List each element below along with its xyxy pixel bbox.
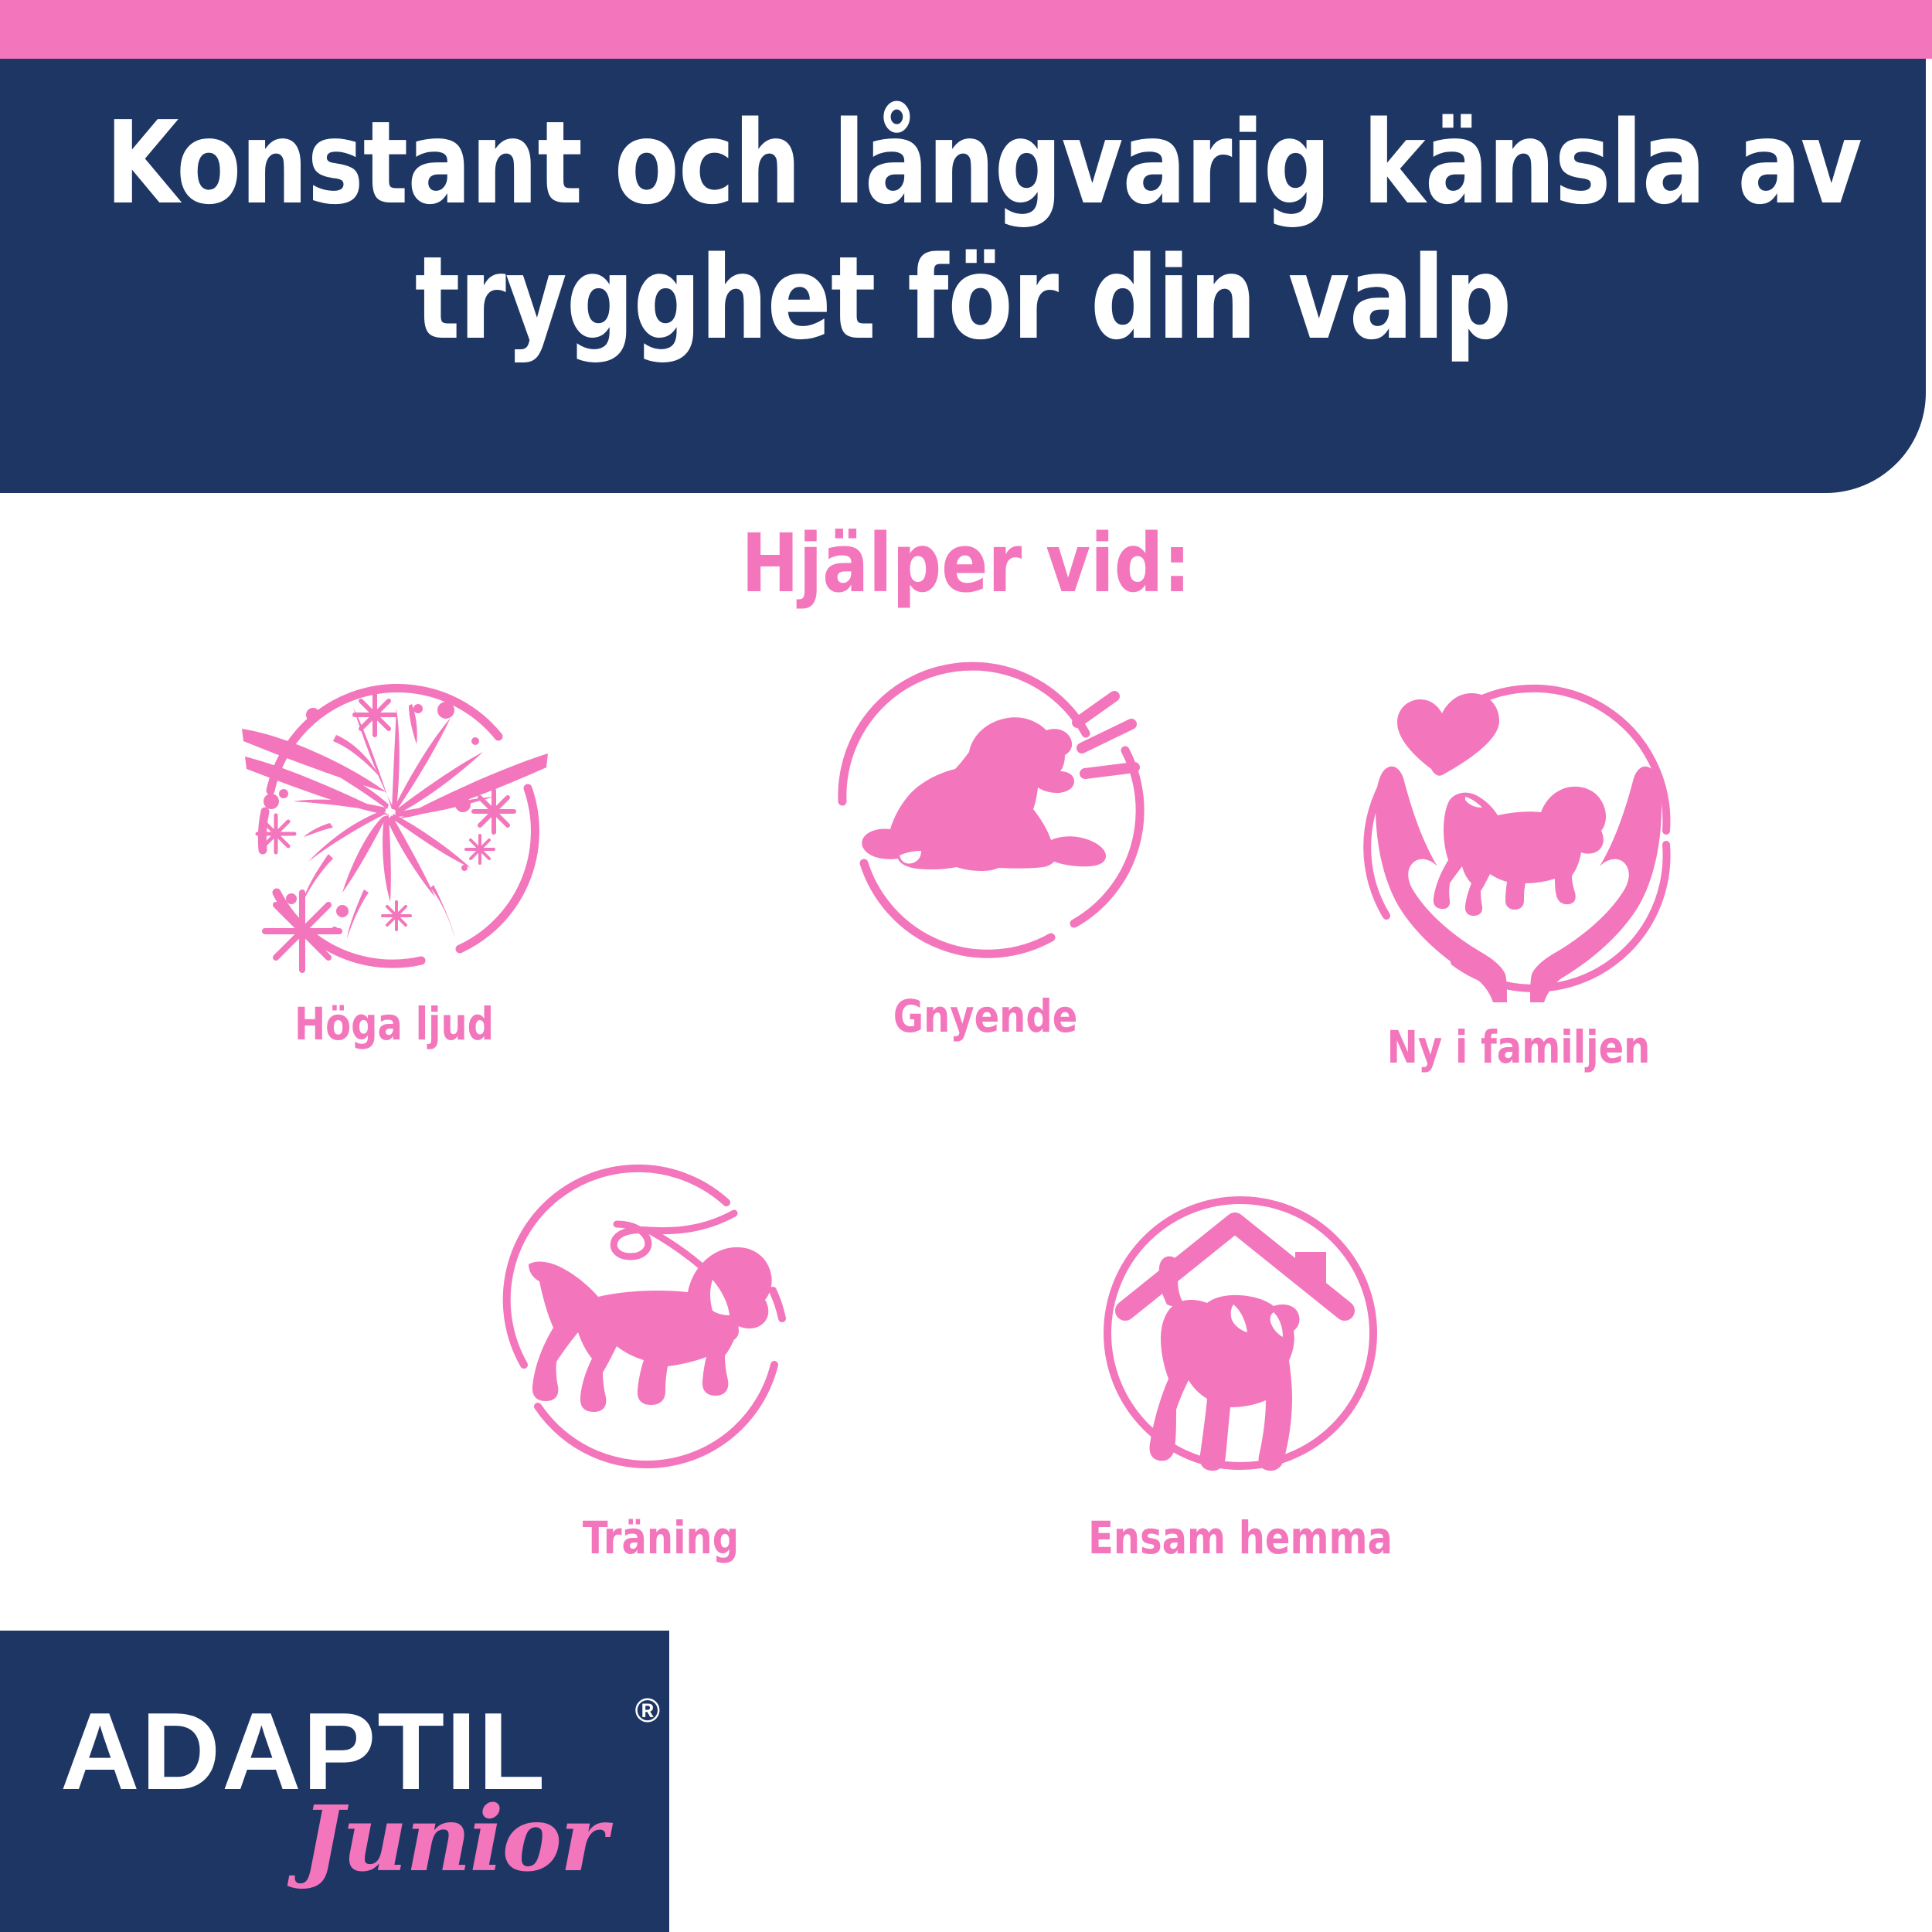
benefit-tile-home-alone: Ensam hemma [1059, 1175, 1422, 1564]
whining-dog-icon [819, 653, 1151, 985]
title-line-2: trygghet för din valp [105, 231, 1820, 366]
benefit-label: Träning [494, 1512, 828, 1564]
brand-logo-block: ADAPTIL® Junior [0, 1631, 669, 1932]
benefit-label: Ensam hemma [1073, 1512, 1407, 1564]
registered-trademark-icon: ® [635, 1694, 660, 1728]
fireworks-icon [228, 661, 560, 993]
benefit-label: Ny i familjen [1352, 1021, 1685, 1073]
puppy-in-hands-heart-icon [1352, 684, 1685, 1016]
title-line-1: Konstant och långvarig känsla av [105, 96, 1820, 231]
top-pink-bar [0, 0, 1932, 59]
header-panel: Konstant och långvarig känsla av trygghe… [0, 59, 1926, 493]
benefit-label: Höga ljud [227, 998, 561, 1050]
infographic-page: Konstant och långvarig känsla av trygghe… [0, 0, 1932, 1932]
benefit-tile-training: Träning [479, 1175, 842, 1564]
puppy-under-roof-icon [1074, 1175, 1406, 1507]
benefit-tile-whining: Gnyende [804, 653, 1167, 1043]
page-title: Konstant och långvarig känsla av trygghe… [77, 96, 1849, 366]
brand-subname: Junior [301, 1794, 606, 1884]
puppy-on-leash-icon [495, 1175, 827, 1507]
benefit-tile-noise: Höga ljud [213, 661, 576, 1050]
section-heading: Hjälper vid: [49, 516, 1884, 611]
benefit-tile-new-family: Ny i familjen [1337, 684, 1700, 1073]
benefit-label: Gnyende [818, 990, 1152, 1043]
